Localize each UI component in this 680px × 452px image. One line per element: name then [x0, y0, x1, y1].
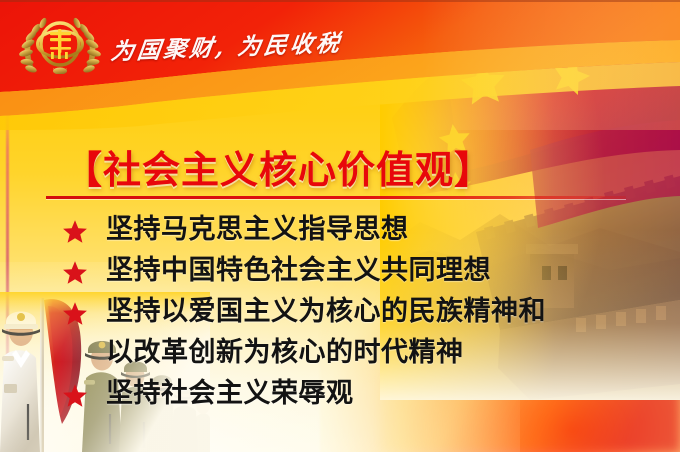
list-item-text: 以改革创新为核心的时代精神 [106, 334, 464, 372]
list-item: 坚持中国特色社会主义共同理想 [62, 252, 582, 290]
red-star-icon [62, 383, 88, 409]
core-values-list: 坚持马克思主义指导思想 坚持中国特色社会主义共同理想 坚持以爱国主义为核心的民族… [62, 211, 582, 416]
title-underline-rule [46, 196, 626, 199]
red-star-icon [62, 260, 88, 286]
list-item-continuation: 以改革创新为核心的时代精神 [62, 334, 582, 372]
list-item-text: 坚持马克思主义指导思想 [106, 211, 409, 249]
page-title-text: 【社会主义核心价值观】 [64, 148, 493, 192]
tax-bureau-emblem-icon [17, 14, 103, 74]
page-title: 【社会主义核心价值观】 [64, 139, 493, 194]
poster-canvas: 为国聚财, 为民收税 [0, 0, 680, 452]
list-item: 坚持以爱国主义为核心的民族精神和 [62, 293, 582, 331]
red-star-icon [62, 301, 88, 327]
list-item-text: 坚持以爱国主义为核心的民族精神和 [106, 293, 546, 331]
list-item-text: 坚持中国特色社会主义共同理想 [106, 252, 491, 290]
red-star-icon [62, 219, 88, 245]
list-item-text: 坚持社会主义荣辱观 [106, 375, 354, 413]
list-item: 坚持社会主义荣辱观 [62, 375, 582, 413]
list-item: 坚持马克思主义指导思想 [62, 211, 582, 249]
